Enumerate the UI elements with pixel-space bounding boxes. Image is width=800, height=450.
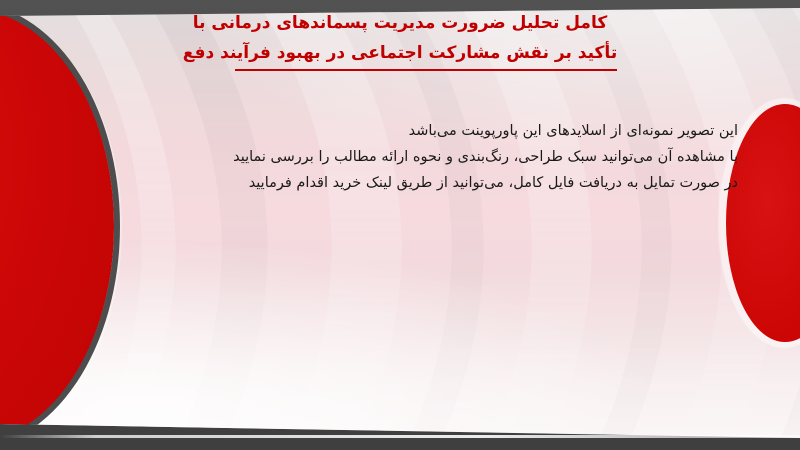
slide-title: کامل تحلیل ضرورت مدیریت پسماندهای درمانی…: [0, 8, 800, 71]
title-line-2: تأکید بر نقش مشارکت اجتماعی در بهبود فرآ…: [183, 43, 617, 63]
presentation-slide: کامل تحلیل ضرورت مدیریت پسماندهای درمانی…: [0, 0, 800, 450]
title-line-1: کامل تحلیل ضرورت مدیریت پسماندهای درمانی…: [0, 8, 800, 38]
title-line-2-row: تأکید بر نقش مشارکت اجتماعی در بهبود فرآ…: [0, 38, 800, 71]
slide-body-text: این تصویر نمونه‌ای از اسلایدهای این پاور…: [233, 118, 738, 196]
body-line-1: این تصویر نمونه‌ای از اسلایدهای این پاور…: [233, 118, 738, 144]
title-underline: [235, 69, 617, 71]
body-line-2: با مشاهده آن می‌توانید سبک طراحی، رنگ‌بن…: [233, 144, 738, 170]
title-line-2-wrapper: تأکید بر نقش مشارکت اجتماعی در بهبود فرآ…: [183, 38, 617, 71]
body-line-3: در صورت تمایل به دریافت فایل کامل، می‌تو…: [233, 170, 738, 196]
